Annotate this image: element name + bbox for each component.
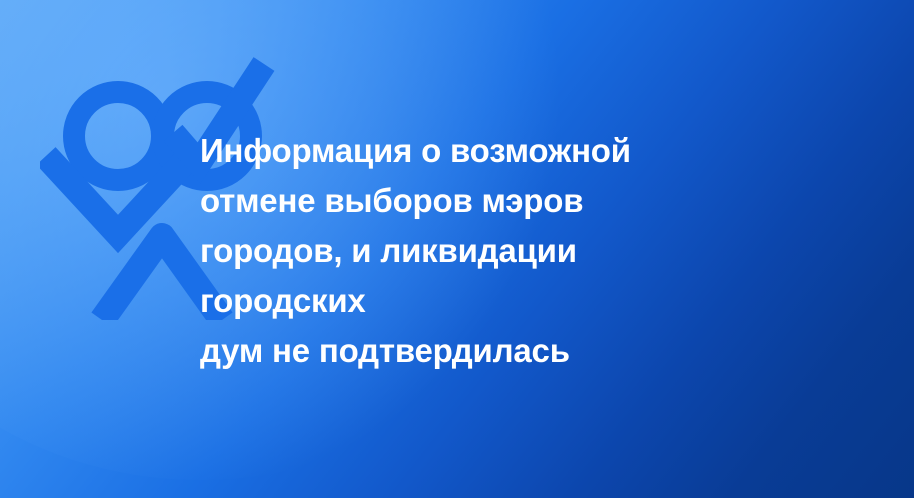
headline-line-3: городов, и ликвидации (200, 226, 720, 276)
headline-line-1: Информация о возможной (200, 126, 720, 176)
news-banner: Информация о возможной отмене выборов мэ… (0, 0, 914, 498)
headline-line-2: отмене выборов мэров (200, 176, 720, 226)
headline-line-4: городских (200, 276, 720, 326)
page-title: Информация о возможной отмене выборов мэ… (200, 126, 720, 376)
headline-line-5: дум не подтвердилась (200, 326, 720, 376)
